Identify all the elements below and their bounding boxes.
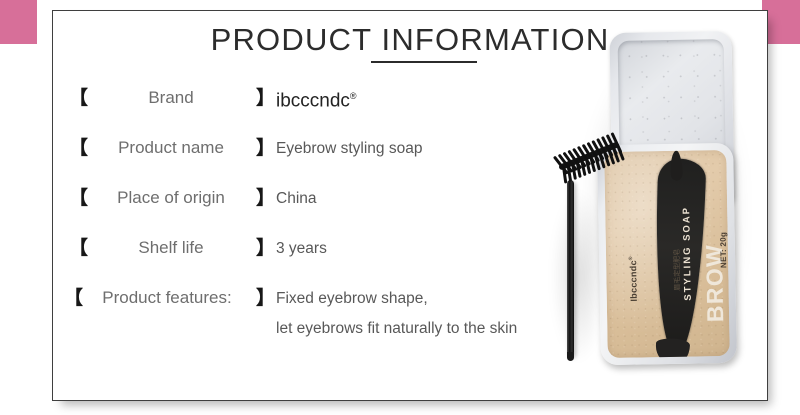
bracket-close-icon: 】 bbox=[256, 186, 275, 210]
pink-square-left bbox=[0, 0, 37, 44]
spec-row-product-features: 【 Product features: 】 Fixed eyebrow shap… bbox=[61, 279, 521, 345]
spoolie-brush bbox=[541, 128, 611, 358]
spec-list: 【 Brand 】 ibcccndc® 【 Product name 】 Eye… bbox=[61, 79, 521, 345]
bracket-close-icon: 】 bbox=[256, 86, 275, 110]
feature-line-1: Fixed eyebrow shape, bbox=[276, 290, 428, 307]
kraft-paper-label: Ibcccndc® BROW STYLING SOAP 眉毛定型肥皂 NET: … bbox=[604, 150, 730, 358]
product-photo: Ibcccndc® BROW STYLING SOAP 眉毛定型肥皂 NET: … bbox=[523, 16, 767, 396]
brush-handle-tip bbox=[567, 352, 574, 361]
spec-label-brand: Brand bbox=[85, 86, 257, 110]
spec-value-brand: ibcccndc® bbox=[276, 84, 357, 113]
feature-line-2: let eyebrows fit naturally to the skin bbox=[276, 317, 517, 341]
label-subtitle-text: STYLING SOAP bbox=[681, 206, 694, 301]
spec-label-product-name: Product name bbox=[85, 136, 257, 160]
bracket-close-icon: 】 bbox=[256, 136, 275, 160]
spec-label-place-of-origin: Place of origin bbox=[85, 186, 257, 210]
brush-handle bbox=[567, 180, 574, 356]
spec-row-place-of-origin: 【 Place of origin 】 China bbox=[61, 179, 521, 229]
bracket-close-icon: 】 bbox=[256, 236, 275, 260]
product-information-card: PRODUCT INFORMATION 【 Brand 】 ibcccndc® … bbox=[52, 10, 768, 401]
spec-label-shelf-life: Shelf life bbox=[85, 236, 257, 260]
spec-label-product-features: Product features: bbox=[77, 286, 257, 310]
label-net-weight-text: NET: 20g bbox=[719, 232, 729, 268]
brand-name-text: ibcccndc bbox=[276, 90, 350, 111]
spec-value-place-of-origin: China bbox=[276, 187, 317, 211]
registered-trademark-icon: ® bbox=[350, 91, 357, 101]
screenshot-root: PRODUCT INFORMATION 【 Brand 】 ibcccndc® … bbox=[0, 0, 800, 415]
spec-value-product-name: Eyebrow styling soap bbox=[276, 137, 422, 161]
label-registered-icon: ® bbox=[628, 256, 634, 260]
label-cn-text: 眉毛定型肥皂 bbox=[672, 249, 683, 291]
spec-row-product-name: 【 Product name 】 Eyebrow styling soap bbox=[61, 129, 521, 179]
spec-row-brand: 【 Brand 】 ibcccndc® bbox=[61, 79, 521, 129]
spec-value-shelf-life: 3 years bbox=[276, 237, 327, 261]
brush-shadow bbox=[551, 188, 597, 364]
spec-row-shelf-life: 【 Shelf life 】 3 years bbox=[61, 229, 521, 279]
tin-base: Ibcccndc® BROW STYLING SOAP 眉毛定型肥皂 NET: … bbox=[597, 143, 737, 365]
title-underline bbox=[371, 61, 477, 63]
label-brand-text: Ibcccndc® bbox=[628, 256, 639, 302]
bracket-close-icon: 】 bbox=[256, 286, 275, 310]
spec-value-product-features: Fixed eyebrow shape,let eyebrows fit nat… bbox=[276, 287, 517, 341]
